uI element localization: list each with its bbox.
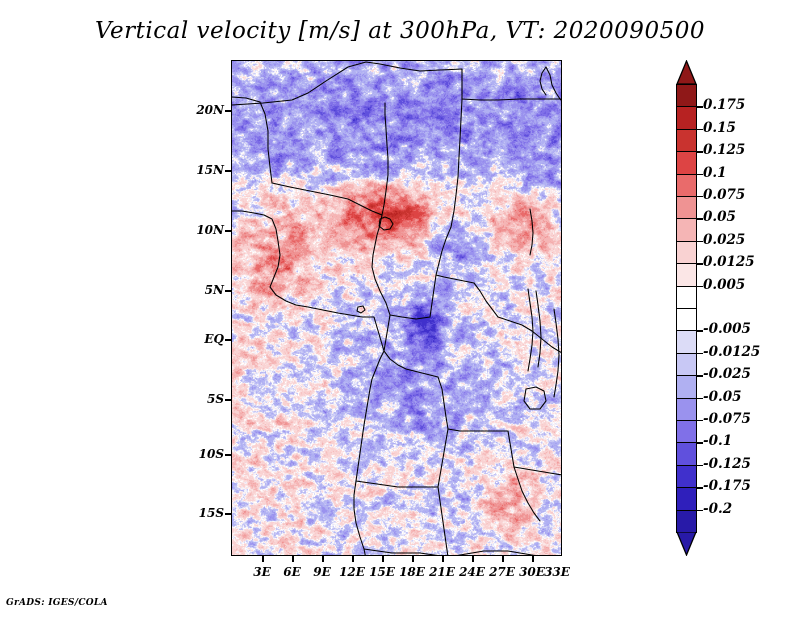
colorbar-tick-label: 0.05	[703, 209, 736, 225]
colorbar-band	[676, 241, 697, 265]
colorbar-tick-label: 0.025	[703, 232, 745, 248]
colorbar-tick	[697, 487, 703, 488]
colorbar-tick	[697, 129, 703, 130]
x-tick	[502, 556, 504, 562]
colorbar-tick	[697, 241, 703, 242]
colorbar-band	[676, 286, 697, 310]
colorbar-band	[676, 129, 697, 153]
colorbar-band	[676, 330, 697, 354]
colorbar-band	[676, 84, 697, 108]
y-tick	[225, 339, 231, 341]
colorbar-tick-label: 0.005	[703, 277, 745, 293]
country-borders-overlay	[231, 60, 562, 556]
colorbar-tick	[697, 510, 703, 511]
x-tick	[412, 556, 414, 562]
attribution-footer: GrADS: IGES/COLA	[6, 598, 108, 608]
colorbar-tick-label: -0.2	[703, 501, 732, 517]
x-tick	[442, 556, 444, 562]
colorbar-tick-label: -0.025	[703, 366, 751, 382]
colorbar-tick	[697, 353, 703, 354]
y-tick	[225, 513, 231, 515]
colorbar[interactable]: 0.1750.150.1250.10.0750.050.0250.01250.0…	[676, 60, 796, 560]
colorbar-tick-label: 0.175	[703, 97, 745, 113]
colorbar-tick-label: 0.125	[703, 142, 745, 158]
colorbar-band	[676, 218, 697, 242]
colorbar-band	[676, 398, 697, 422]
x-tick	[532, 556, 534, 562]
y-axis-label-15S: 15S	[196, 506, 224, 520]
figure-root: Vertical velocity [m/s] at 300hPa, VT: 2…	[0, 0, 800, 618]
colorbar-band	[676, 375, 697, 399]
colorbar-band	[676, 510, 697, 534]
colorbar-tick	[697, 398, 703, 399]
y-axis-label-15N: 15N	[196, 163, 224, 177]
colorbar-tick-label: -0.05	[703, 389, 741, 405]
colorbar-band	[676, 442, 697, 466]
colorbar-band	[676, 465, 697, 489]
colorbar-band	[676, 420, 697, 444]
colorbar-tick	[697, 218, 703, 219]
colorbar-tick-label: 0.0125	[703, 254, 755, 270]
colorbar-tick-label: -0.175	[703, 478, 751, 494]
y-tick	[225, 170, 231, 172]
colorbar-tick	[697, 174, 703, 175]
colorbar-tick-label: 0.075	[703, 187, 745, 203]
colorbar-tick-label: -0.0125	[703, 344, 760, 360]
y-tick	[225, 230, 231, 232]
colorbar-band	[676, 308, 697, 332]
x-tick	[472, 556, 474, 562]
colorbar-tick	[697, 330, 703, 331]
map-panel	[231, 60, 562, 556]
y-axis-label-5S: 5S	[196, 392, 224, 406]
colorbar-tick-label: -0.1	[703, 433, 732, 449]
colorbar-tick	[697, 465, 703, 466]
colorbar-band	[676, 487, 697, 511]
colorbar-tick-label: 0.15	[703, 120, 736, 136]
y-axis-label-10N: 10N	[196, 223, 224, 237]
colorbar-tick	[697, 106, 703, 107]
colorbar-band	[676, 353, 697, 377]
colorbar-tick	[697, 151, 703, 152]
x-axis-label-33E: 33E	[537, 565, 577, 579]
colorbar-tick-label: 0.1	[703, 165, 727, 181]
colorbar-tick	[697, 420, 703, 421]
page-title: Vertical velocity [m/s] at 300hPa, VT: 2…	[0, 18, 800, 44]
y-axis-label-20N: 20N	[196, 103, 224, 117]
colorbar-band	[676, 174, 697, 198]
x-tick	[322, 556, 324, 562]
y-tick	[225, 454, 231, 456]
y-tick	[225, 290, 231, 292]
colorbar-tick-label: -0.005	[703, 321, 751, 337]
colorbar-tick	[697, 196, 703, 197]
colorbar-tick	[697, 263, 703, 264]
colorbar-band	[676, 106, 697, 130]
colorbar-tick-label: -0.075	[703, 411, 751, 427]
colorbar-tick	[697, 442, 703, 443]
colorbar-band	[676, 196, 697, 220]
x-tick	[262, 556, 264, 562]
y-axis-label-EQ: EQ	[196, 332, 224, 346]
colorbar-band	[676, 263, 697, 287]
colorbar-tick	[697, 375, 703, 376]
colorbar-tick-label: -0.125	[703, 456, 751, 472]
colorbar-tick	[697, 286, 703, 287]
x-tick	[352, 556, 354, 562]
y-axis-label-5N: 5N	[196, 283, 224, 297]
colorbar-band	[676, 151, 697, 175]
colorbar-max-arrow	[676, 60, 697, 84]
y-tick	[225, 110, 231, 112]
y-axis-label-10S: 10S	[196, 447, 224, 461]
x-tick	[292, 556, 294, 562]
y-tick	[225, 399, 231, 401]
x-tick	[382, 556, 384, 562]
colorbar-min-arrow	[676, 532, 697, 556]
